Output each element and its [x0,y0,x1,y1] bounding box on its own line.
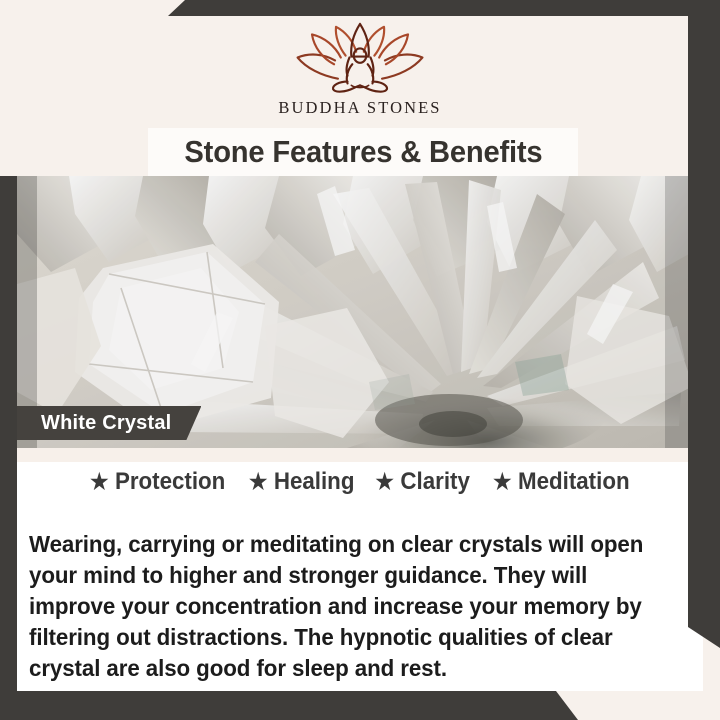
benefit-label: Meditation [518,468,630,496]
photo-caption-label: White Crystal [41,412,171,435]
content-top-band [17,448,703,462]
benefit-label: Clarity [401,468,470,496]
title-banner: Stone Features & Benefits [148,128,578,176]
benefit-label: Healing [274,468,355,496]
benefit-label: Protection [115,468,225,496]
brand-logo: BUDDHA STONES [240,22,480,118]
lotus-meditation-figure-icon [285,22,435,94]
benefit-item-clarity: ★ Clarity [376,468,470,496]
brand-name: BUDDHA STONES [240,98,480,118]
content-area: ★ Protection ★ Healing ★ Clarity ★ Medit… [17,448,703,691]
benefit-item-healing: ★ Healing [249,468,354,496]
star-icon: ★ [376,471,394,493]
star-icon: ★ [91,471,109,493]
benefit-item-protection: ★ Protection [91,468,226,496]
frame-right-bar [688,0,720,648]
star-icon: ★ [249,471,267,493]
page-title: Stone Features & Benefits [184,134,542,170]
stone-features-poster: BUDDHA STONES Stone Features & Benefits [0,0,720,720]
benefit-item-meditation: ★ Meditation [493,468,629,496]
description-paragraph: Wearing, carrying or meditating on clear… [29,529,660,684]
benefits-row: ★ Protection ★ Healing ★ Clarity ★ Medit… [17,468,703,496]
star-icon: ★ [493,471,511,493]
frame-left-bar [0,176,17,720]
frame-bottom-bar [0,691,720,720]
photo-caption-tag: White Crystal [17,406,201,440]
